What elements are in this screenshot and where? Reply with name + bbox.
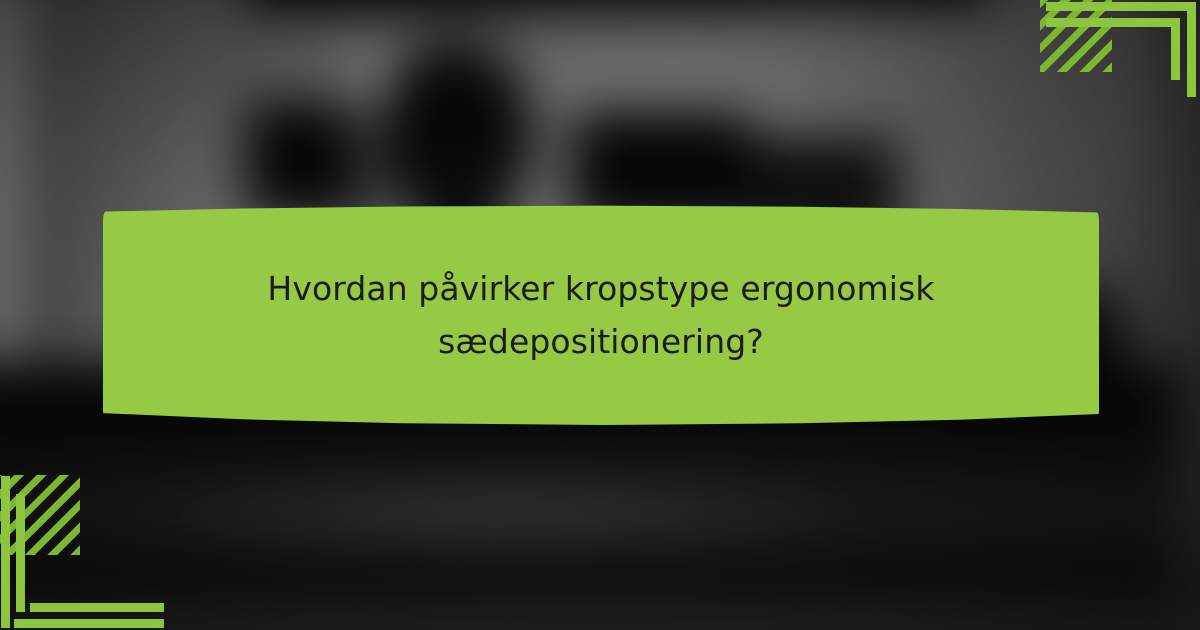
corner-bracket-bottom-left (0, 475, 165, 630)
corner-bracket-top-right (1040, 0, 1200, 110)
corner-line-horizontal-inner-bl (30, 603, 164, 612)
question-banner: Hvordan påvirker kropstype ergonomisk sæ… (103, 205, 1099, 425)
corner-line-horizontal-outer (1046, 2, 1192, 11)
corner-line-horizontal-outer-bl (14, 619, 164, 628)
corner-line-horizontal-inner (1046, 18, 1178, 27)
question-card: Hvordan påvirker kropstype ergonomisk sæ… (0, 0, 1200, 630)
question-text: Hvordan påvirker kropstype ergonomisk sæ… (221, 262, 981, 369)
corner-line-vertical-inner-bl (16, 494, 25, 612)
corner-line-vertical-outer-bl (1, 476, 10, 628)
corner-line-vertical-inner (1171, 18, 1180, 80)
corner-line-vertical-outer (1187, 2, 1196, 97)
corner-hatch-bottom-left-icon (0, 475, 80, 555)
